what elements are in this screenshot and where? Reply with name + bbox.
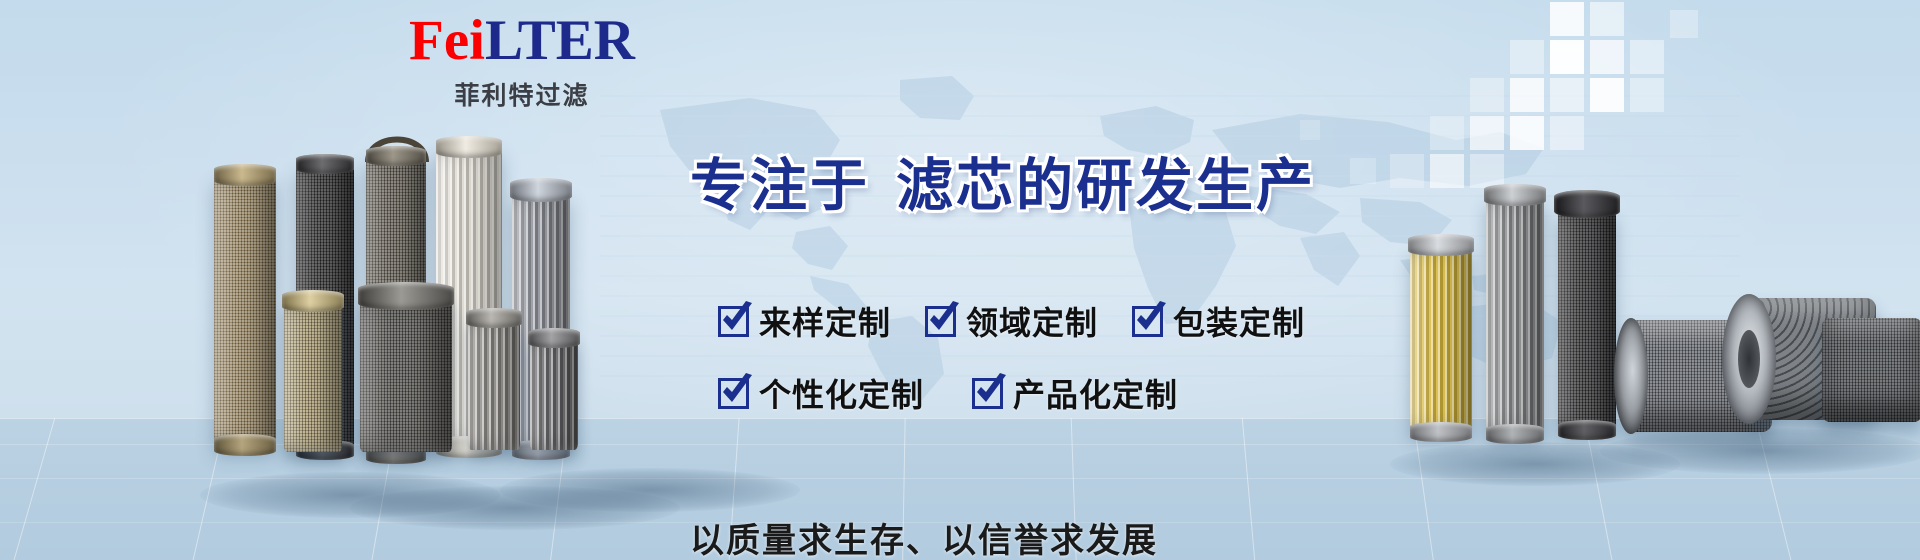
promo-banner: FeiLTER 菲利特过滤 专注于滤芯的研发生产 来样定制 领域定制: [0, 0, 1920, 560]
filter-cartridge-group-left: [200, 120, 780, 500]
cartridge-end-ring: [1722, 294, 1776, 424]
checklist-row-1: 来样定制 领域定制 包装定制: [718, 298, 1339, 344]
check-mark-icon: [925, 306, 956, 337]
checklist-label: 领域定制: [966, 298, 1098, 344]
feature-checklist: 来样定制 领域定制 包装定制 个性化定制: [718, 298, 1339, 416]
tagline: 以质量求生存、以信誉求发展: [690, 513, 1158, 560]
checklist-label: 个性化定制: [759, 370, 924, 416]
checklist-item-field-custom[interactable]: 领域定制: [925, 298, 1098, 344]
checklist-item-packaging-custom[interactable]: 包装定制: [1132, 298, 1305, 344]
checklist-label: 产品化定制: [1013, 370, 1178, 416]
check-mark-icon: [972, 378, 1003, 409]
product-shadow: [500, 468, 800, 512]
checklist-label: 包装定制: [1173, 298, 1305, 344]
headline: 专注于滤芯的研发生产: [690, 140, 1316, 222]
logo-chinese-name: 菲利特过滤: [392, 76, 652, 112]
check-mark-icon: [1132, 306, 1163, 337]
logo-wordmark-blue: LTER: [485, 9, 635, 72]
cartridge-end-ring: [1614, 318, 1648, 434]
checklist-row-2: 个性化定制 产品化定制: [718, 370, 1339, 416]
logo-wordmark: FeiLTER: [392, 12, 652, 70]
product-shadow: [1600, 428, 1920, 474]
filter-cartridge-group-right: [1390, 170, 1920, 500]
company-logo[interactable]: FeiLTER 菲利特过滤: [392, 12, 652, 112]
checklist-item-productized-custom[interactable]: 产品化定制: [972, 370, 1178, 416]
headline-part-2: 滤芯的研发生产: [896, 153, 1316, 219]
logo-wordmark-red: Fei: [409, 9, 485, 72]
